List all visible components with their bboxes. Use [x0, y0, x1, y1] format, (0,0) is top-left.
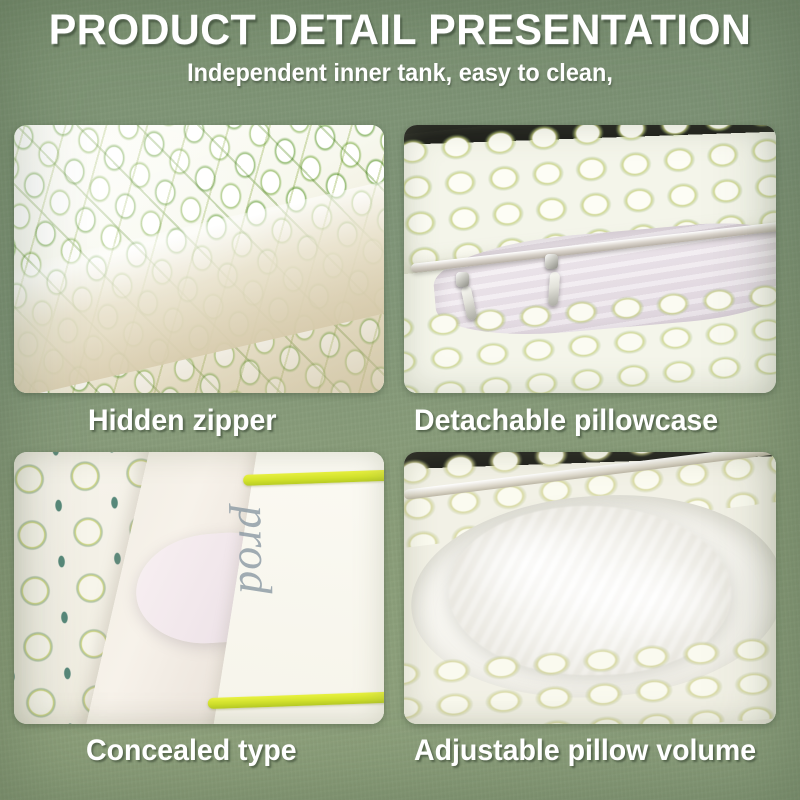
detail-panel-hidden-zipper[interactable]: [14, 125, 384, 393]
panel-image-concealed-type: prod: [14, 452, 384, 724]
caption-hidden-zipper: Hidden zipper: [88, 402, 276, 440]
panel-image-detachable-pillowcase: [404, 125, 776, 393]
detail-panel-adjustable-pillow-volume[interactable]: [404, 452, 776, 724]
lighting-shade-overlay: [14, 125, 384, 393]
lighting-shade-overlay: [404, 125, 776, 393]
caption-detachable-pillowcase: Detachable pillowcase: [414, 402, 718, 440]
lighting-shade-overlay: [404, 452, 776, 724]
caption-adjustable-pillow-volume: Adjustable pillow volume: [414, 732, 756, 770]
panel-image-adjustable-pillow-volume: [404, 452, 776, 724]
panel-image-hidden-zipper: [14, 125, 384, 393]
detail-panel-detachable-pillowcase[interactable]: [404, 125, 776, 393]
product-detail-poster: PRODUCT DETAIL PRESENTATION Independent …: [0, 0, 800, 800]
page-subtitle: Independent inner tank, easy to clean,: [24, 56, 776, 90]
caption-concealed-type: Concealed type: [86, 732, 297, 770]
page-title: PRODUCT DETAIL PRESENTATION: [16, 4, 784, 56]
detail-panel-concealed-type[interactable]: prod: [14, 452, 384, 724]
lighting-shade-overlay: [14, 452, 384, 724]
